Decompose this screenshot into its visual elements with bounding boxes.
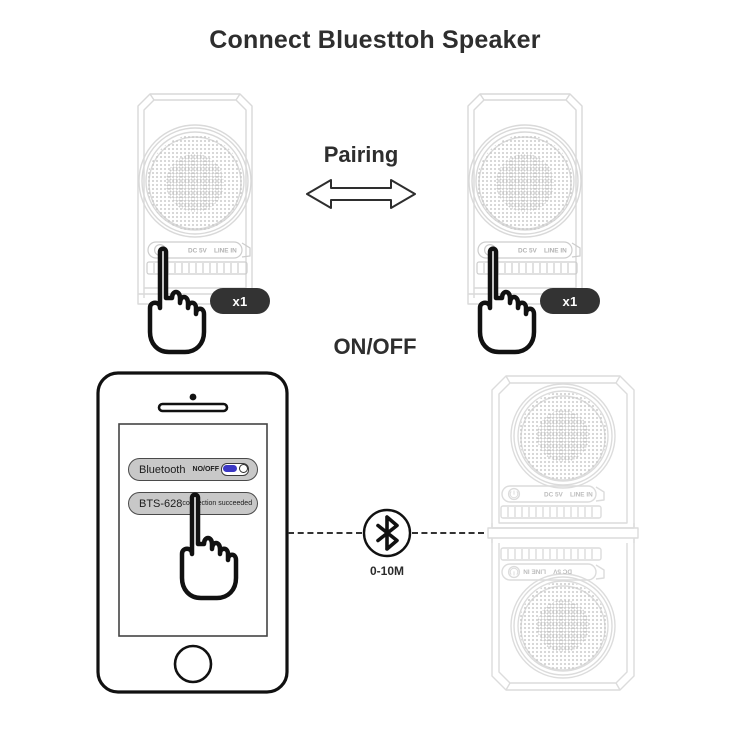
smartphone: Bluetooth NO/OFF BTS-628 connection succ… (95, 370, 290, 695)
speaker-left-grille-inner (166, 154, 224, 212)
speaker-right: DC 5V LINE IN x1 (450, 88, 600, 313)
onoff-label: ON/OFF (295, 334, 455, 360)
illustration-canvas: Connect Bluesttoh Speaker (0, 0, 750, 750)
stack-top-linein-label: LINE IN (570, 492, 593, 499)
pointing-hand-phone (171, 492, 255, 604)
pairing-double-arrow-icon (305, 175, 417, 213)
page-title: Connect Bluesttoh Speaker (0, 26, 750, 55)
stack-bottom-linein-label: LINE IN (523, 568, 546, 575)
speaker-right-grille-inner (496, 154, 554, 212)
speaker-left: DC 5V LINE IN x1 (120, 88, 270, 313)
bluetooth-toggle-label: NO/OFF (193, 466, 219, 473)
stack-bottom-dc-label: DC 5V (552, 568, 572, 575)
phone-row-bluetooth[interactable]: Bluetooth NO/OFF (128, 458, 258, 481)
bluetooth-distance-label: 0-10M (352, 564, 422, 578)
link-dash-right (412, 532, 484, 534)
toggle-knob[interactable] (239, 464, 248, 473)
press-count-badge-left: x1 (210, 288, 270, 314)
stack-top-grille-inner (537, 410, 589, 462)
press-count-badge-right: x1 (540, 288, 600, 314)
bluetooth-toggle-group[interactable]: NO/OFF (193, 463, 249, 476)
link-dash-left (288, 532, 362, 534)
bluetooth-toggle-switch[interactable] (221, 463, 249, 476)
bluetooth-icon (362, 508, 412, 558)
phone-row-bluetooth-label: Bluetooth (139, 464, 185, 476)
speaker-stack: DC 5V LINE IN DC 5V LINE IN (478, 368, 648, 698)
toggle-fill (223, 465, 237, 472)
pairing-label: Pairing (306, 142, 416, 168)
stack-bottom-grille-inner (537, 600, 589, 652)
stack-top-dc-label: DC 5V (544, 492, 564, 499)
